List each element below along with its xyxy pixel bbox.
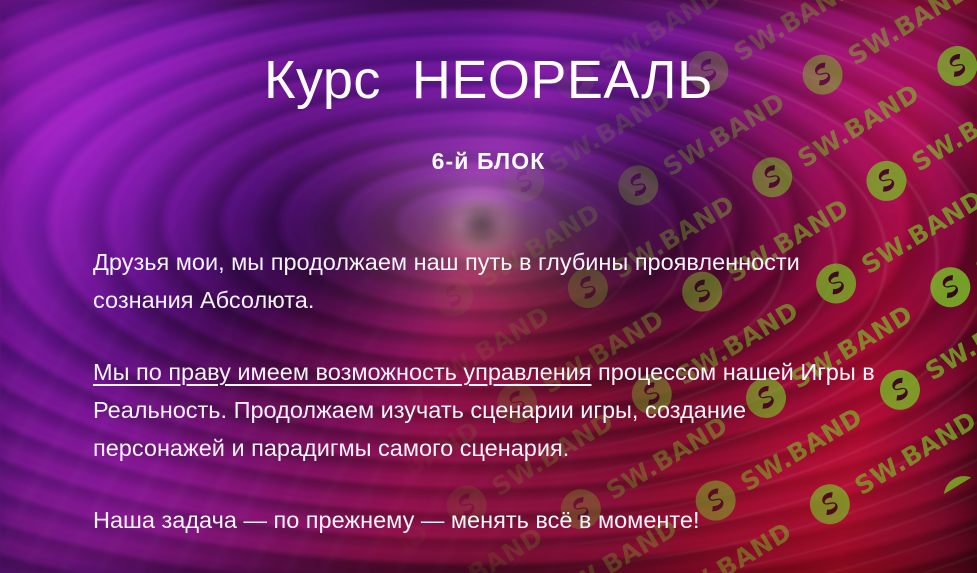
block-subtitle: 6-й БЛОК <box>0 148 977 175</box>
underlined-phrase: Мы по праву имеем возможность управления <box>93 359 592 385</box>
page-title: Курс НЕОРЕАЛЬ <box>0 52 977 109</box>
slide-content: Курс НЕОРЕАЛЬ 6-й БЛОК Друзья мои, мы пр… <box>0 0 977 573</box>
paragraph-intro: Друзья мои, мы продолжаем наш путь в глу… <box>93 243 883 319</box>
paragraph-intro-text: Друзья мои, мы продолжаем наш путь в глу… <box>93 249 800 313</box>
body-copy: Друзья мои, мы продолжаем наш путь в глу… <box>93 243 883 539</box>
paragraph-control: Мы по праву имеем возможность управления… <box>93 353 883 467</box>
paragraph-task-text: Наша задача — по прежнему — менять всё в… <box>93 507 699 533</box>
slide-canvas: SW.BANDSW.BANDSW.BANDSW.BANDSW.BANDSW.BA… <box>0 0 977 573</box>
paragraph-task: Наша задача — по прежнему — менять всё в… <box>93 501 883 539</box>
